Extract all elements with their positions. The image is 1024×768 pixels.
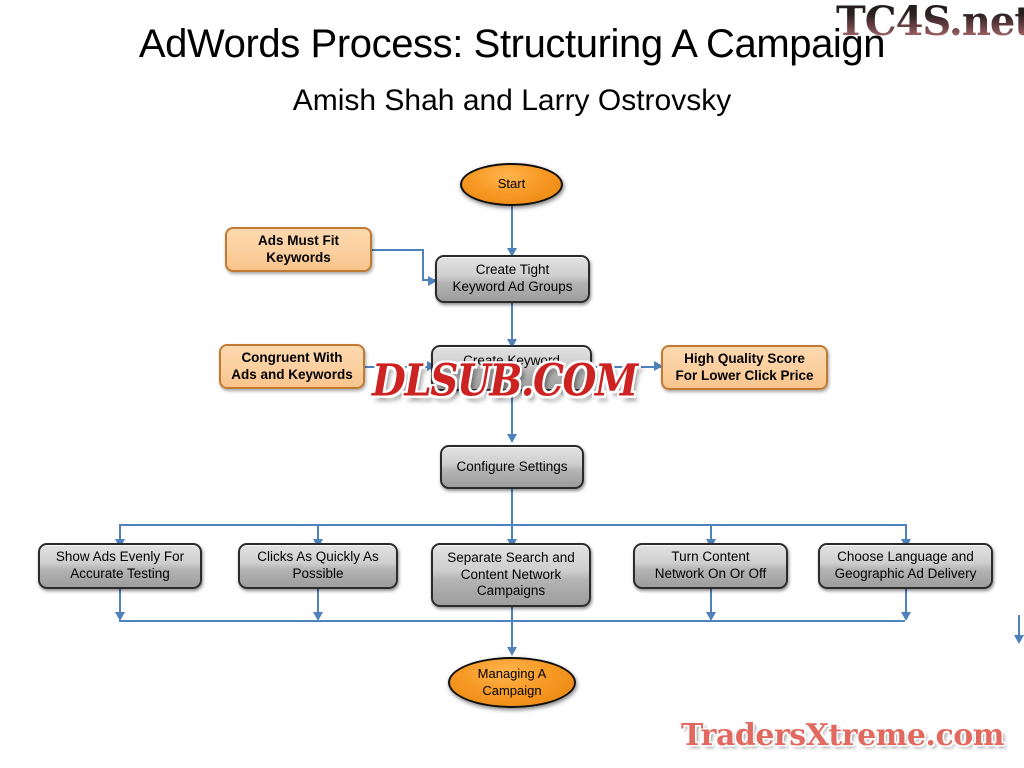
flow-note-high-quality-score[interactable]: High Quality Score For Lower Click Price [661,345,828,390]
arrowhead-merge-4 [706,612,716,621]
connector-merge-2 [317,589,319,614]
connector-configure-to-bus [511,489,513,525]
flow-note-ads-must-fit-keywords-line2: Keywords [258,250,339,267]
connector-merge-5 [905,589,907,614]
flow-note-high-quality-score-line2: For Lower Click Price [675,368,813,385]
flow-node-clicks-as-quickly-as-possible-line1: Clicks As Quickly As [257,549,379,566]
flow-note-congruent-with-ads-and-keywords-line2: Ads and Keywords [231,367,353,384]
arrowhead-merge-2 [313,612,323,621]
arrowhead-merge-1 [115,612,125,621]
flow-node-start-label: Start [498,176,525,192]
flow-node-separate-search-line2: Content Network [447,567,575,584]
flow-note-congruent-with-ads-and-keywords[interactable]: Congruent With Ads and Keywords [219,344,365,389]
flow-note-ads-must-fit-keywords-line1: Ads Must Fit [258,233,339,250]
watermark-dlsub: DLSUB.COM [372,355,637,407]
arrowhead-createkeyword-to-configure [507,434,517,443]
flow-node-show-ads-evenly-line2: Accurate Testing [56,566,184,583]
connector-note1-h1 [371,249,424,251]
connector-stray-right [1018,615,1020,637]
flow-node-separate-search-and-content-network-campaigns[interactable]: Separate Search and Content Network Camp… [431,543,591,607]
flow-node-choose-language-line2: Geographic Ad Delivery [835,566,977,583]
flow-node-configure-settings-label: Configure Settings [456,459,567,476]
connector-merge-1 [119,589,121,614]
flow-node-clicks-as-quickly-as-possible-line2: Possible [257,566,379,583]
flow-note-ads-must-fit-keywords[interactable]: Ads Must Fit Keywords [225,227,372,272]
flow-node-separate-search-line1: Separate Search and [447,550,575,567]
arrowhead-stray-right [1014,635,1024,644]
arrowhead-center-to-end [507,647,517,656]
flow-node-show-ads-evenly-line1: Show Ads Evenly For [56,549,184,566]
page-subtitle: Amish Shah and Larry Ostrovsky [0,84,1024,118]
flow-node-turn-content-network-line2: Network On Or Off [655,566,767,583]
connector-adgroups-to-createkeyword [511,303,513,341]
flow-node-show-ads-evenly[interactable]: Show Ads Evenly For Accurate Testing [38,543,202,589]
slide-canvas: AdWords Process: Structuring A Campaign … [0,0,1024,768]
flow-node-separate-search-line3: Campaigns [447,583,575,600]
flow-note-congruent-with-ads-and-keywords-line1: Congruent With [231,350,353,367]
flow-node-choose-language-line1: Choose Language and [835,549,977,566]
connector-center-to-end [511,607,513,649]
flow-node-configure-settings[interactable]: Configure Settings [440,445,584,489]
flow-node-start[interactable]: Start [460,163,563,206]
arrowhead-merge-5 [901,612,911,621]
flow-node-turn-content-network-on-or-off[interactable]: Turn Content Network On Or Off [633,543,788,589]
flow-node-create-tight-keyword-ad-groups-line2: Keyword Ad Groups [452,279,572,296]
watermark-tradersxtreme: TradersXtreme.com [681,718,1004,753]
flow-node-managing-a-campaign-line1: Managing A [478,666,547,682]
flow-node-choose-language-and-geographic-ad-delivery[interactable]: Choose Language and Geographic Ad Delive… [818,543,993,589]
flow-node-turn-content-network-line1: Turn Content [655,549,767,566]
watermark-tc4s: TC4S.net [836,0,1024,45]
flow-node-managing-a-campaign-line2: Campaign [478,683,547,699]
flow-node-managing-a-campaign[interactable]: Managing A Campaign [448,657,576,708]
connector-start-to-adgroups [511,205,513,250]
flow-note-high-quality-score-line1: High Quality Score [675,351,813,368]
flow-node-create-tight-keyword-ad-groups[interactable]: Create Tight Keyword Ad Groups [435,255,590,303]
connector-note1-v [422,249,424,281]
connector-merge-4 [710,589,712,614]
flow-node-create-tight-keyword-ad-groups-line1: Create Tight [452,262,572,279]
flow-node-clicks-as-quickly-as-possible[interactable]: Clicks As Quickly As Possible [238,543,398,589]
